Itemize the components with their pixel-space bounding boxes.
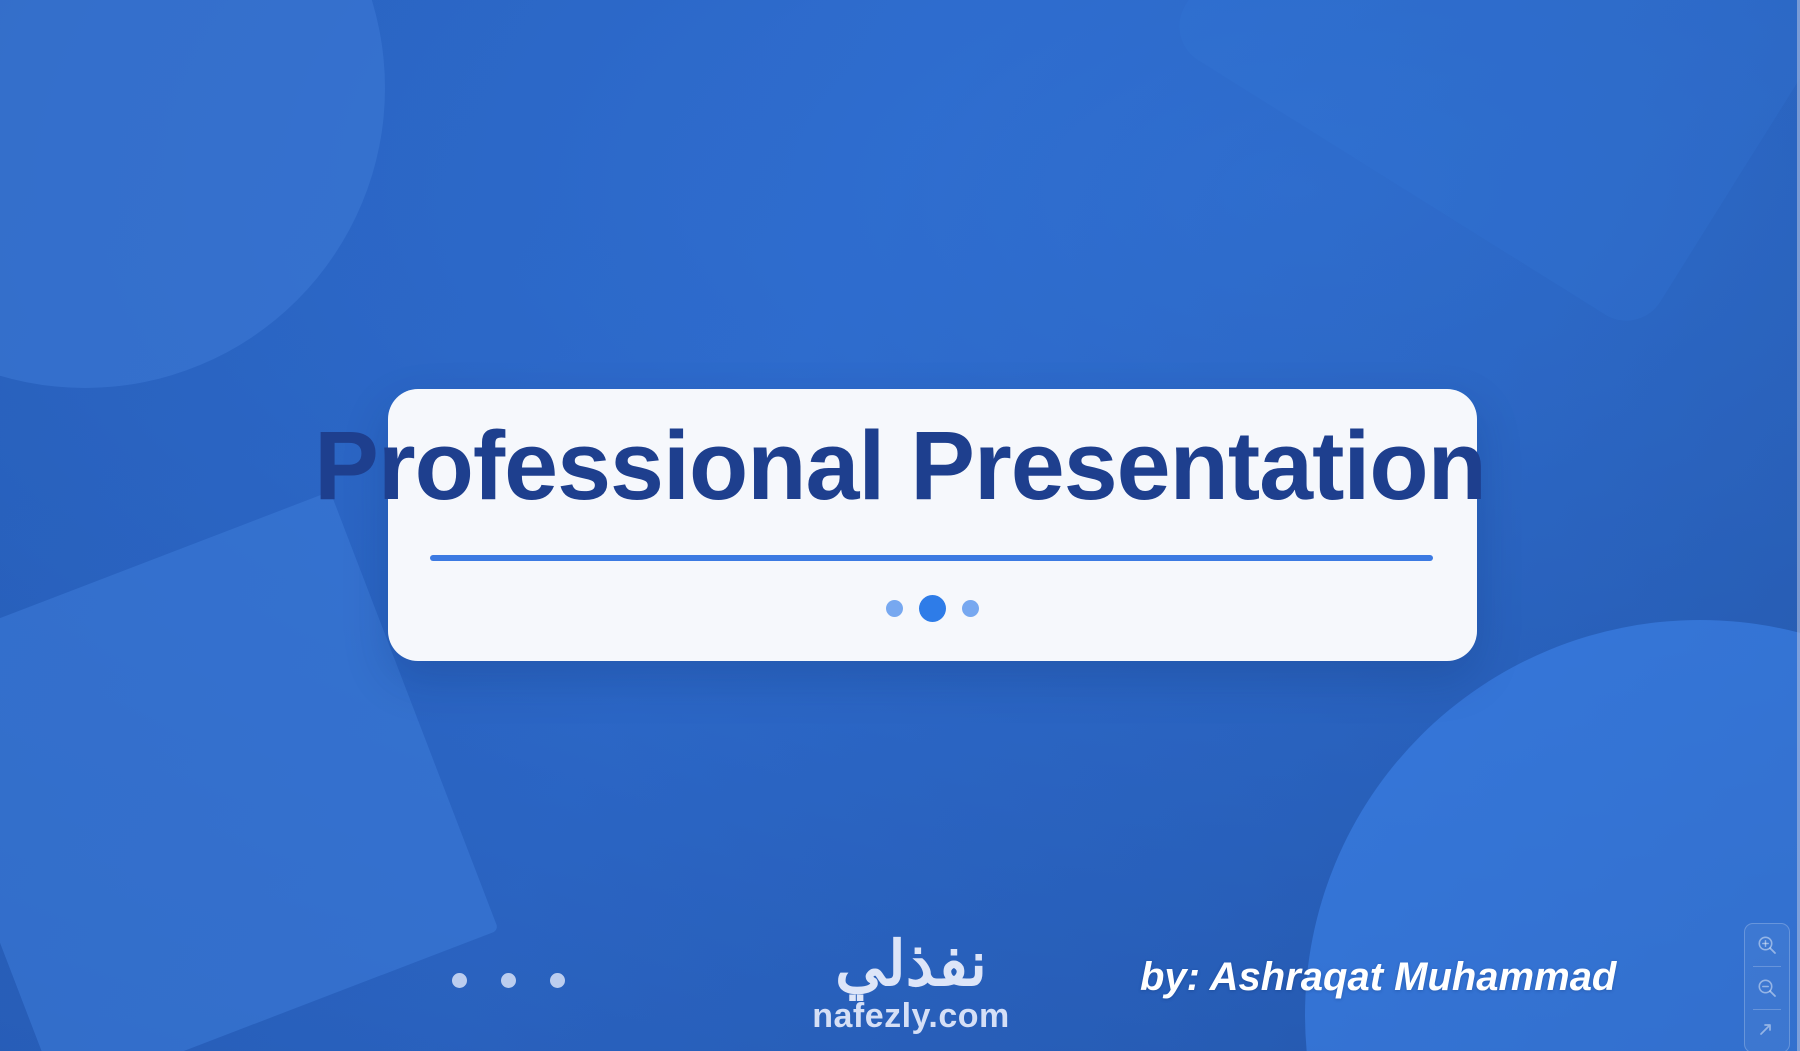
title-divider <box>430 555 1433 561</box>
magnifier-minus-icon <box>1756 977 1778 999</box>
watermark-domain-text: nafezly.com <box>786 997 1036 1036</box>
zoom-control-widget[interactable] <box>1744 923 1790 1051</box>
presentation-slide: Professional Presentation نفذلي nafezly.… <box>0 0 1800 1051</box>
watermark-arabic-logo: نفذلي <box>786 936 1036 995</box>
zoom-in-button[interactable] <box>1745 924 1789 966</box>
footer-dot-3 <box>550 973 565 988</box>
zoom-out-button[interactable] <box>1745 967 1789 1009</box>
author-credit: by: Ashraqat Muhammad <box>1140 955 1616 1000</box>
pagination-dot-2-active[interactable] <box>919 595 946 622</box>
pagination-dot-3[interactable] <box>962 600 979 617</box>
slide-title: Professional Presentation <box>0 389 1800 541</box>
expand-button[interactable] <box>1745 1010 1789 1051</box>
expand-arrow-icon <box>1756 1020 1778 1042</box>
footer-dot-group <box>452 973 565 988</box>
pagination-dot-1[interactable] <box>886 600 903 617</box>
watermark: نفذلي nafezly.com <box>786 936 1036 1036</box>
footer-dot-1 <box>452 973 467 988</box>
magnifier-plus-icon <box>1756 934 1778 956</box>
footer-dot-2 <box>501 973 516 988</box>
pagination-dots[interactable] <box>388 592 1477 624</box>
